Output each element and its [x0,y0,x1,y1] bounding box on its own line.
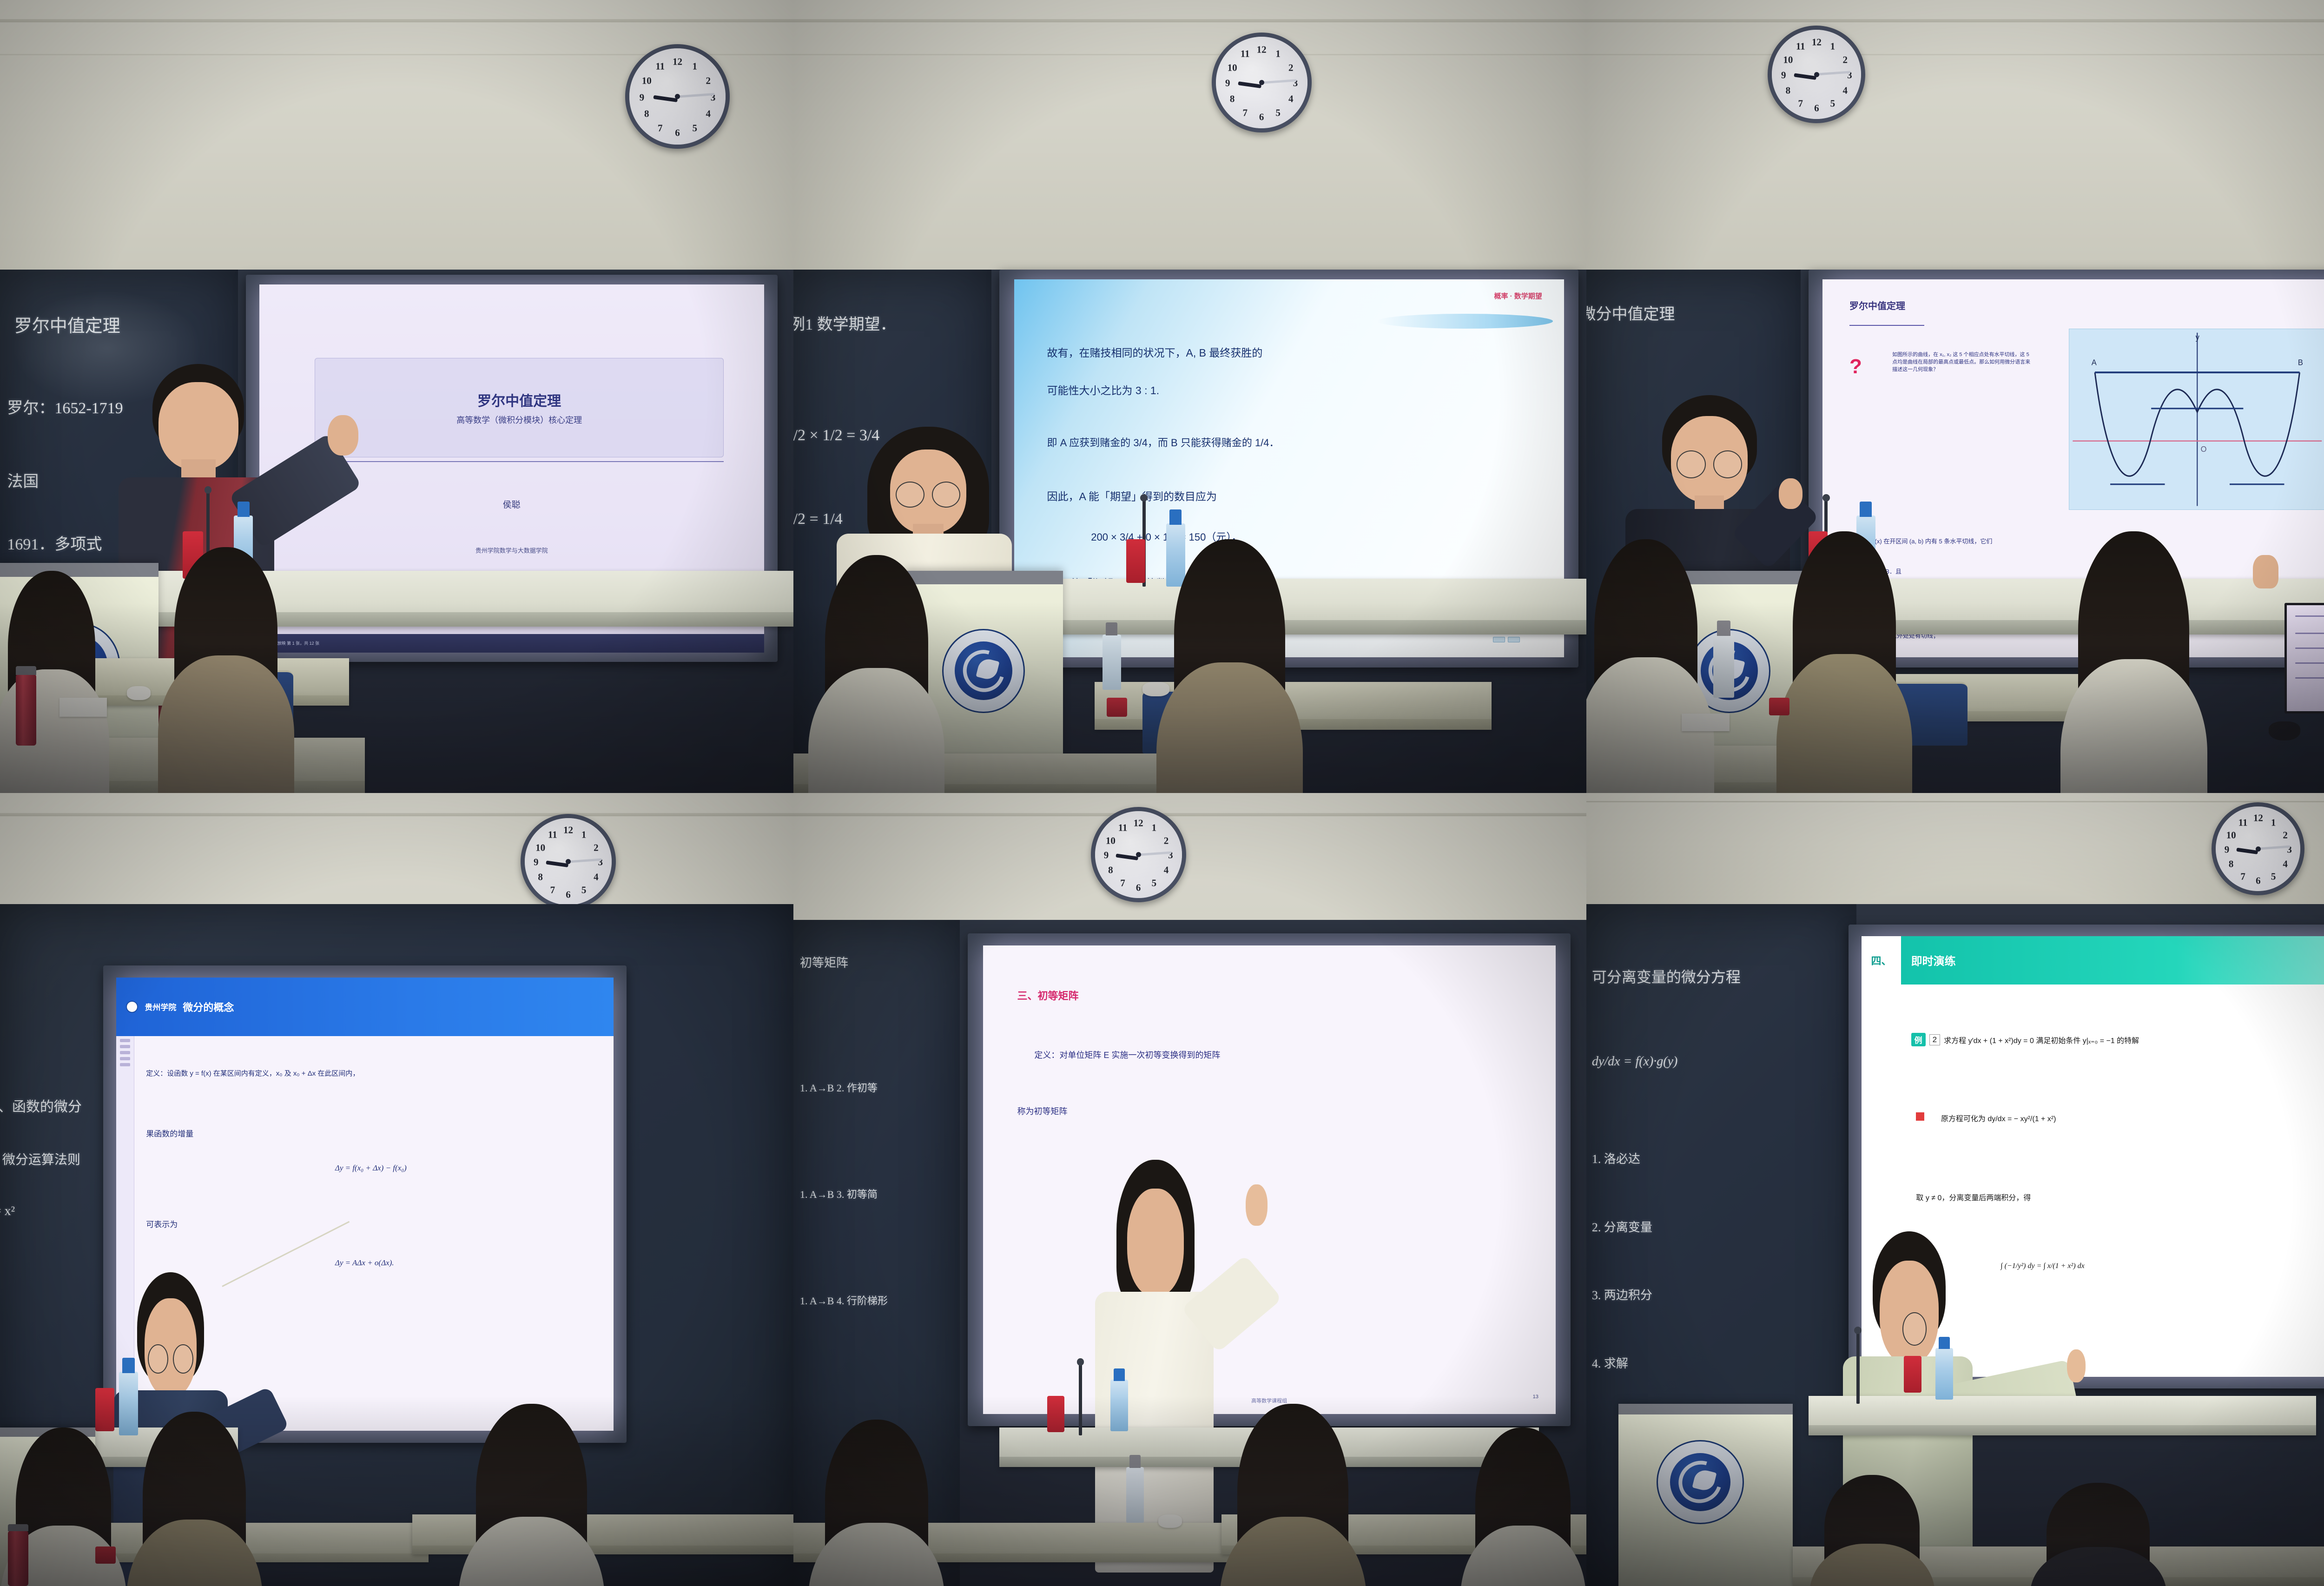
chalk-line-3: 1. A→B 4. 行阶梯形 [800,1293,888,1308]
slide-line-0: 故有，在赌技相同的状况下，A, B 最终获胜的 [1047,344,1263,360]
wall-clock: 12 1 2 3 4 5 6 7 8 9 10 11 [1091,807,1186,902]
chalk-line-1: 1. A→B 2. 作初等 [800,1080,878,1095]
raised-hand [2253,555,2278,588]
chalk-line-0: 罗尔中值定理 [14,311,120,337]
chalk-line-3: 2. 分离变量 [1592,1218,1652,1235]
panel-top-center: 12 1 2 3 4 5 6 7 8 9 10 11 例1 数学期望． 1/2 … [793,0,1587,793]
chalk-line-2: 法国 [7,469,39,491]
slide-conclusion: 称为初等矩阵 [1017,1105,1067,1117]
chalk-line-3: y = x² [0,1204,15,1219]
slide-line-4: Δy = AΔx + o(Δx). [335,1258,394,1268]
university-seal-icon [126,1001,138,1013]
teacher-hand [2067,1349,2086,1382]
slide-subtitle: 高等数学（微积分模块）核心定理 [456,414,582,426]
slide-line-0: 定义：设函数 y = f(x) 在某区间内有定义，x₀ 及 x₀ + Δx 在此… [146,1068,359,1078]
rolle-graph-figure: A B O y [2069,329,2324,510]
slide-definition: 定义：对单位矩阵 E 实施一次初等变换得到的矩阵 [1034,1049,1527,1061]
wall-clock: 12 1 2 3 4 5 6 7 8 9 10 11 [521,814,616,909]
chalk-line-1: 二、微分运算法则 [0,1150,80,1168]
chalk-line-0: 初等矩阵 [800,953,848,971]
panel-bottom-right: 12 1 2 3 4 5 6 7 8 9 10 11 可分离变量的微分方程 dy… [1586,793,2324,1586]
teacher-hand [1246,1184,1267,1226]
slide-section-number: 四、 [1862,936,1901,985]
slide-question: 如图所示的曲线，在 x₁, x₂ 这 5 个相应点处有水平切线，这 5 点均是曲… [1892,351,2031,374]
slide-example-label: 例 2 求方程 y′dx + (1 + x²)dy = 0 满足初始条件 y|ₓ… [1911,1033,2139,1046]
slide-line-1: 果函数的增量 [146,1127,193,1139]
slide-line-3: 可表示为 [146,1218,178,1229]
chalk-line-0: 微分中值定理 [1586,301,1675,324]
water-bottle [1935,1348,1953,1400]
glasses-icon [1902,1312,1927,1345]
slide-header: 概率 · 数学期望 [1494,291,1542,301]
wall-seam [1586,19,2324,22]
projection-screen-frame: 三、初等矩阵 定义：对单位矩阵 E 实施一次初等变换得到的矩阵 称为初等矩阵 1… [968,933,1571,1426]
chalk-line-5: 4. 求解 [1592,1354,1628,1371]
glasses-icon [896,482,924,508]
teacher-hand [1779,478,1802,509]
example-number: 2 [1929,1034,1940,1045]
wall [793,0,1587,270]
chalk-line-0: 一、函数的微分 [0,1095,82,1116]
teacher-hand [328,415,358,456]
glasses-icon [1677,450,1706,478]
slide-elementary-matrix: 三、初等矩阵 定义：对单位矩阵 E 实施一次初等变换得到的矩阵 称为初等矩阵 1… [983,945,1556,1414]
chalk-line-3: 1691．多项式 [7,531,102,554]
svg-text:A: A [2092,358,2097,367]
slide-line-1: 可能性大小之比为 3 : 1. [1047,382,1160,397]
slide-department: 贵州学院数学与大数据学院 [259,546,764,555]
wall-clock: 12 1 2 3 4 5 6 7 8 9 10 11 [1212,33,1312,132]
microphone [1856,1332,1860,1404]
chalk-line-0: 例1 数学期望． [793,311,896,334]
slide-header-bar: 贵州学院 微分的概念 [116,978,614,1037]
wall-seam [1586,801,2324,802]
bullet-marker [1916,1112,1924,1121]
wall-clock: 12 1 2 3 4 5 6 7 8 9 10 11 [2212,802,2304,895]
projection-screen: 三、初等矩阵 定义：对单位矩阵 E 实施一次初等变换得到的矩阵 称为初等矩阵 1… [983,945,1556,1414]
slide-title: 微分的概念 [183,999,234,1014]
slide-heading: 三、初等矩阵 [1017,988,1078,1003]
slide-section-header: 四、 即时演练 [1862,936,2324,985]
slide-university: 贵州学院 [145,1001,176,1012]
slide-step-2: 取 y ≠ 0，分离变量后两端积分，得 [1916,1191,2031,1203]
chalk-line-1: dy/dx = f(x)·g(y) [1592,1054,1677,1069]
slide-line-3: 因此，A 能「期望」得到的数目应为 [1047,488,1217,503]
panel-bottom-left: 12 1 2 3 4 5 6 7 8 9 10 11 一、函数的微分 二、微分运… [0,793,793,1586]
glasses-icon [1713,450,1743,478]
red-cup [1904,1356,1921,1392]
chalk-line-2: 1. 洛必达 [1592,1150,1640,1167]
panel-bottom-center: 12 1 2 3 4 5 6 7 8 9 10 11 初等矩阵 1. A→B 2… [793,793,1587,1586]
wall-clock: 12 1 2 3 4 5 6 7 8 9 10 11 [625,44,730,149]
panel-top-right: 12 1 2 3 4 5 6 7 8 9 10 11 微分中值定理 [1586,0,2324,793]
chalk-line-4: 3. 两边积分 [1592,1286,1652,1303]
wall-clock: 12 1 2 3 4 5 6 7 8 9 10 11 [1768,26,1865,123]
slide-line-2: Δy = f(x₀ + Δx) − f(x₀) [335,1163,407,1173]
glasses-icon [148,1344,168,1374]
slide-line-2: 即 A 应获到赌金的 3/4，而 B 只能获得赌金的 1/4． [1047,435,1280,449]
slide-section-title: 即时演练 [1901,936,2324,985]
wall-seam [793,813,1587,816]
glasses-icon [173,1344,193,1374]
panel-top-left: 12 1 2 3 4 5 6 7 8 9 10 11 罗尔中值定理 罗尔：165… [0,0,793,793]
wall-seam-lower [793,54,1587,55]
wall-seam [793,19,1587,22]
svg-text:O: O [2201,445,2207,454]
example-problem: 求方程 y′dx + (1 + x²)dy = 0 满足初始条件 y|ₓ₌₀ =… [1944,1034,2139,1045]
chalk-line-0: 可分离变量的微分方程 [1592,965,1741,987]
photo-grid: 12 1 2 3 4 5 6 7 8 9 10 11 罗尔中值定理 罗尔：165… [0,0,2324,1586]
red-cup [1126,539,1145,583]
wall [1586,0,2324,270]
wall-seam [0,813,793,816]
example-chip: 例 [1911,1033,1926,1046]
question-mark-icon: ? [1849,355,1862,378]
slide-step-1: 原方程可化为 dy/dx = − xy²/(1 + x²) [1941,1112,2056,1123]
svg-text:y: y [2196,333,2200,342]
chalk-line-2: 1. A→B 3. 初等简 [800,1186,878,1201]
svg-text:B: B [2298,358,2303,367]
slide-step-3: ∫ (−1/y²) dy = ∫ x/(1 + x²) dx [2000,1262,2084,1270]
wall-seam [0,19,793,22]
wall-seam-lower [1586,54,2324,55]
slide-title-main: 罗尔中值定理 [477,390,561,410]
slide-title: 罗尔中值定理 [1849,298,1905,312]
